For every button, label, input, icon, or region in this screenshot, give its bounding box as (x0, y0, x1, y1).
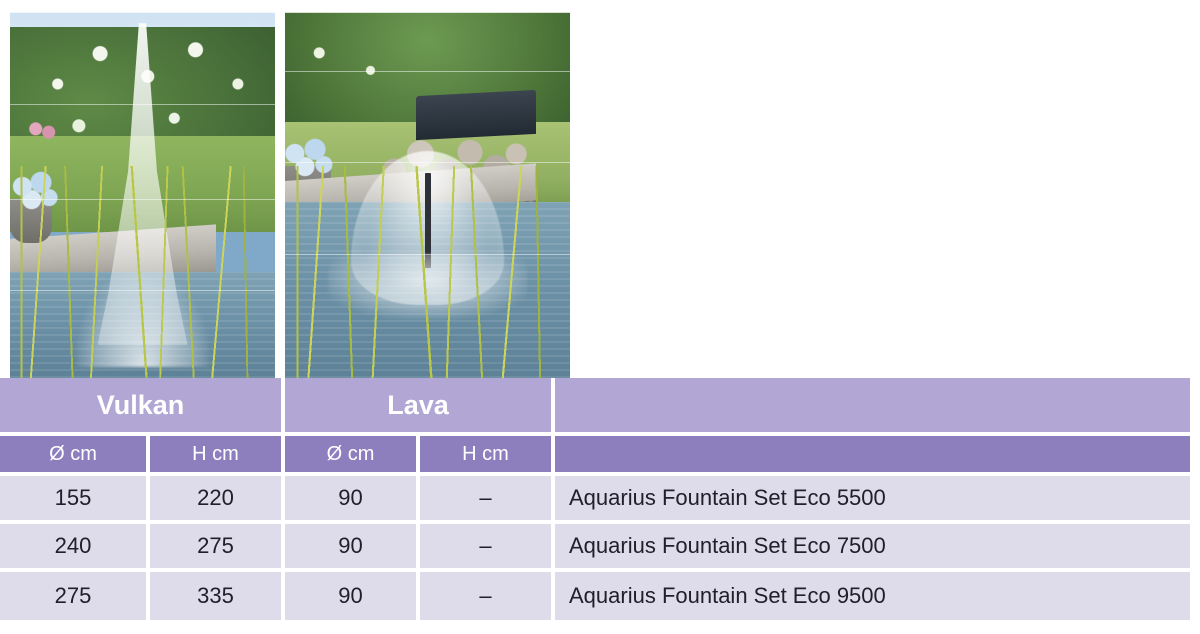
photo-lava (285, 12, 570, 378)
column-header-vulkan-diameter: Ø cm (0, 436, 150, 476)
cell-vulkan-height: 220 (150, 476, 285, 524)
table-row: 275 335 90 – Aquarius Fountain Set Eco 9… (0, 572, 1190, 620)
pond-reeds (10, 166, 275, 378)
cell-lava-height: – (420, 476, 555, 524)
column-header-product (555, 436, 1190, 476)
cell-vulkan-diameter: 155 (0, 476, 150, 524)
pink-flowers (21, 114, 63, 147)
cell-lava-height: – (420, 572, 555, 620)
cell-vulkan-height: 335 (150, 572, 285, 620)
column-header-lava-diameter: Ø cm (285, 436, 420, 476)
table-row: 240 275 90 – Aquarius Fountain Set Eco 7… (0, 524, 1190, 572)
specification-table: Vulkan Lava Ø cm H cm Ø cm H cm 155 220 … (0, 378, 1190, 620)
group-header-lava: Lava (285, 378, 555, 436)
photo-vulkan (10, 12, 275, 378)
cell-product-name: Aquarius Fountain Set Eco 9500 (555, 572, 1190, 620)
table-row: 155 220 90 – Aquarius Fountain Set Eco 5… (0, 476, 1190, 524)
group-header-product (555, 378, 1190, 436)
cell-product-name: Aquarius Fountain Set Eco 7500 (555, 524, 1190, 572)
pond-reeds (285, 166, 570, 378)
cell-lava-diameter: 90 (285, 524, 420, 572)
group-header-vulkan: Vulkan (0, 378, 285, 436)
cell-vulkan-height: 275 (150, 524, 285, 572)
cell-product-name: Aquarius Fountain Set Eco 5500 (555, 476, 1190, 524)
table-column-header-row: Ø cm H cm Ø cm H cm (0, 436, 1190, 476)
product-spec-sheet: Vulkan Lava Ø cm H cm Ø cm H cm 155 220 … (0, 0, 1200, 634)
cell-vulkan-diameter: 240 (0, 524, 150, 572)
fountain-photo-strip (10, 12, 570, 378)
column-header-lava-height: H cm (420, 436, 555, 476)
cell-lava-diameter: 90 (285, 476, 420, 524)
cell-vulkan-diameter: 275 (0, 572, 150, 620)
table-group-header-row: Vulkan Lava (0, 378, 1190, 436)
cell-lava-height: – (420, 524, 555, 572)
column-header-vulkan-height: H cm (150, 436, 285, 476)
cell-lava-diameter: 90 (285, 572, 420, 620)
